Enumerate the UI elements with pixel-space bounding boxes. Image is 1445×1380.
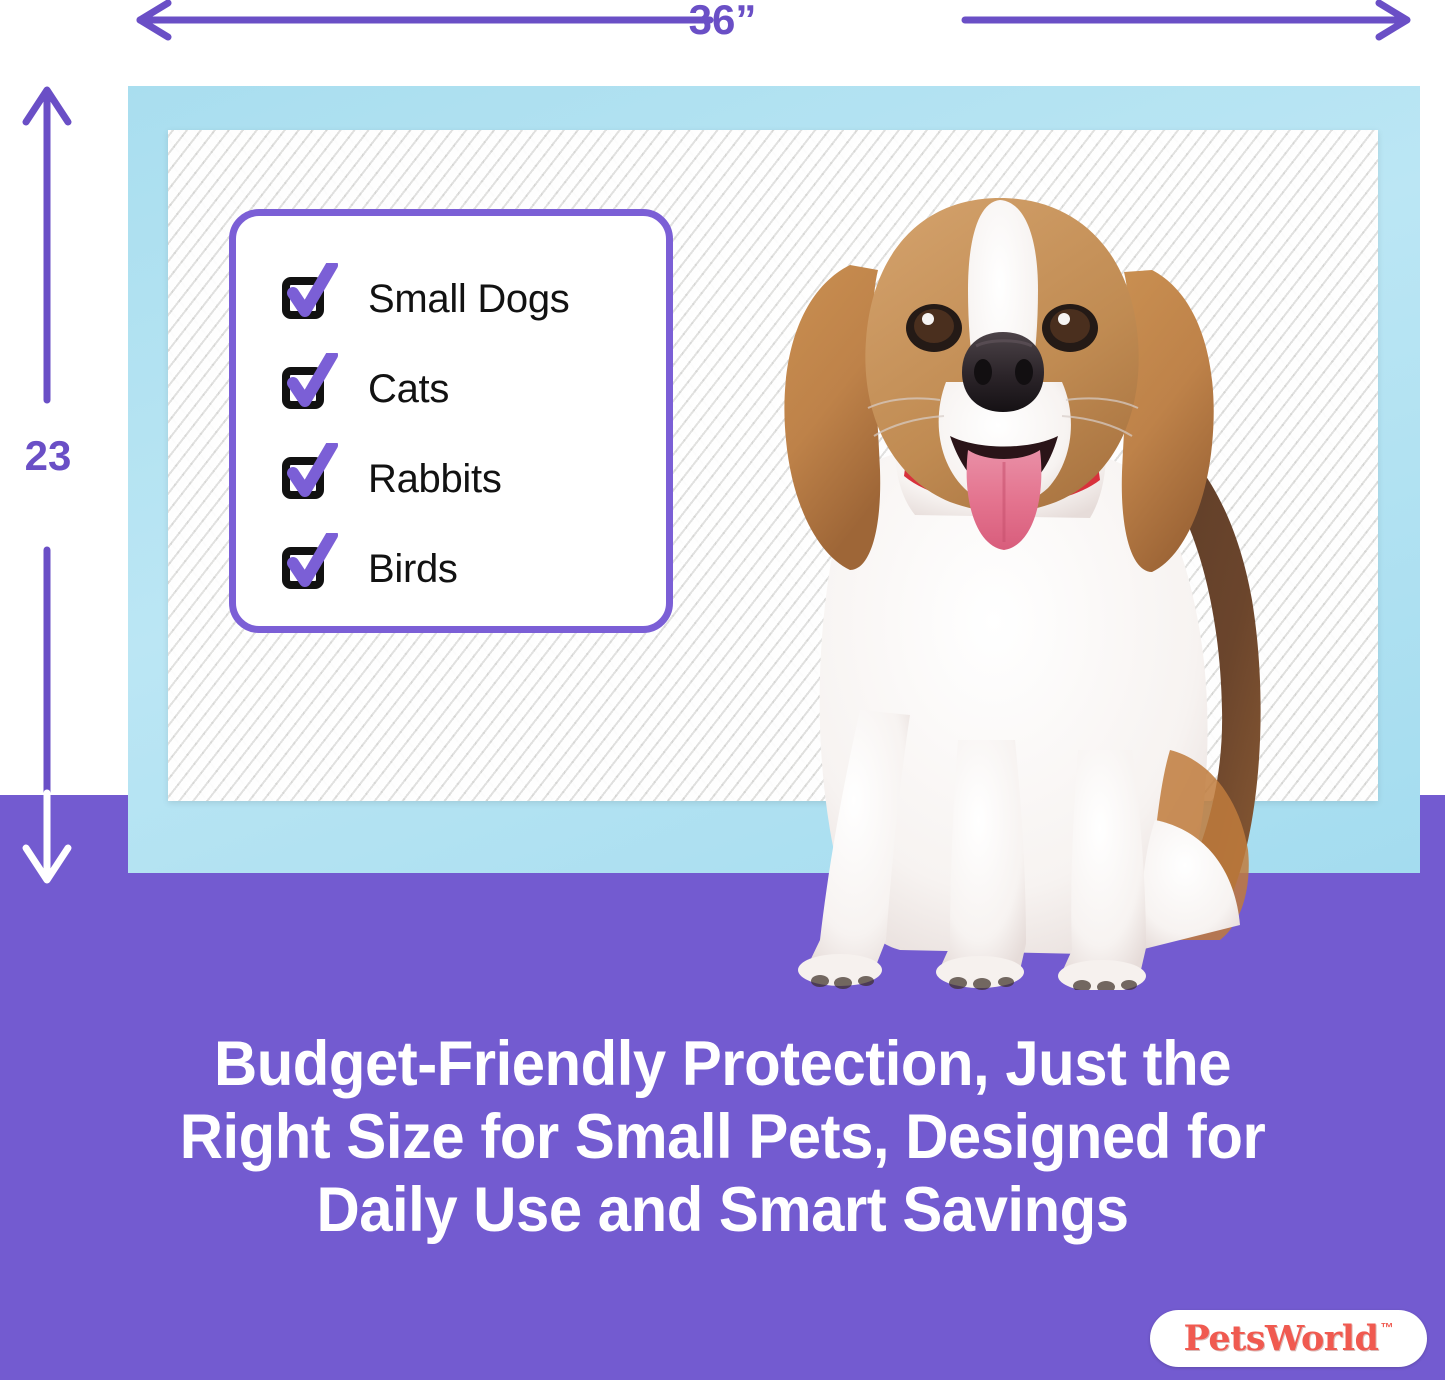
suitable-for-checklist: Small Dogs Cats Rabbits (229, 209, 673, 633)
marketing-headline: Budget-Friendly Protection, Just the Rig… (93, 1028, 1352, 1247)
width-dimension-arrow: 36” (0, 0, 1445, 56)
petsworld-logo: PetsWorld ™ (1150, 1310, 1427, 1367)
checklist-item-label: Rabbits (368, 457, 502, 501)
checklist-item: Birds (280, 524, 666, 614)
height-dimension-label: 23 (8, 432, 88, 480)
headline-line-3: Daily Use and Smart Savings (93, 1174, 1352, 1247)
checkbox-checked-icon (280, 271, 338, 327)
checkbox-checked-icon (280, 361, 338, 417)
checklist-item: Rabbits (280, 434, 666, 524)
checklist-item: Small Dogs (280, 254, 666, 344)
checklist-item-label: Birds (368, 547, 458, 591)
brand-name: PetsWorld (1183, 1320, 1378, 1358)
checkbox-checked-icon (280, 451, 338, 507)
checklist-item-label: Small Dogs (368, 277, 570, 321)
headline-line-1: Budget-Friendly Protection, Just the (93, 1028, 1352, 1101)
height-dimension-arrow: 23 (0, 60, 110, 910)
beagle-dog-photo (700, 150, 1270, 990)
headline-line-2: Right Size for Small Pets, Designed for (93, 1101, 1352, 1174)
checkbox-checked-icon (280, 541, 338, 597)
product-marketing-image: 36” 23 Small D (0, 0, 1445, 1380)
trademark-symbol: ™ (1381, 1320, 1394, 1335)
checklist-item-label: Cats (368, 367, 449, 411)
width-dimension-label: 36” (0, 0, 1445, 44)
checklist-item: Cats (280, 344, 666, 434)
